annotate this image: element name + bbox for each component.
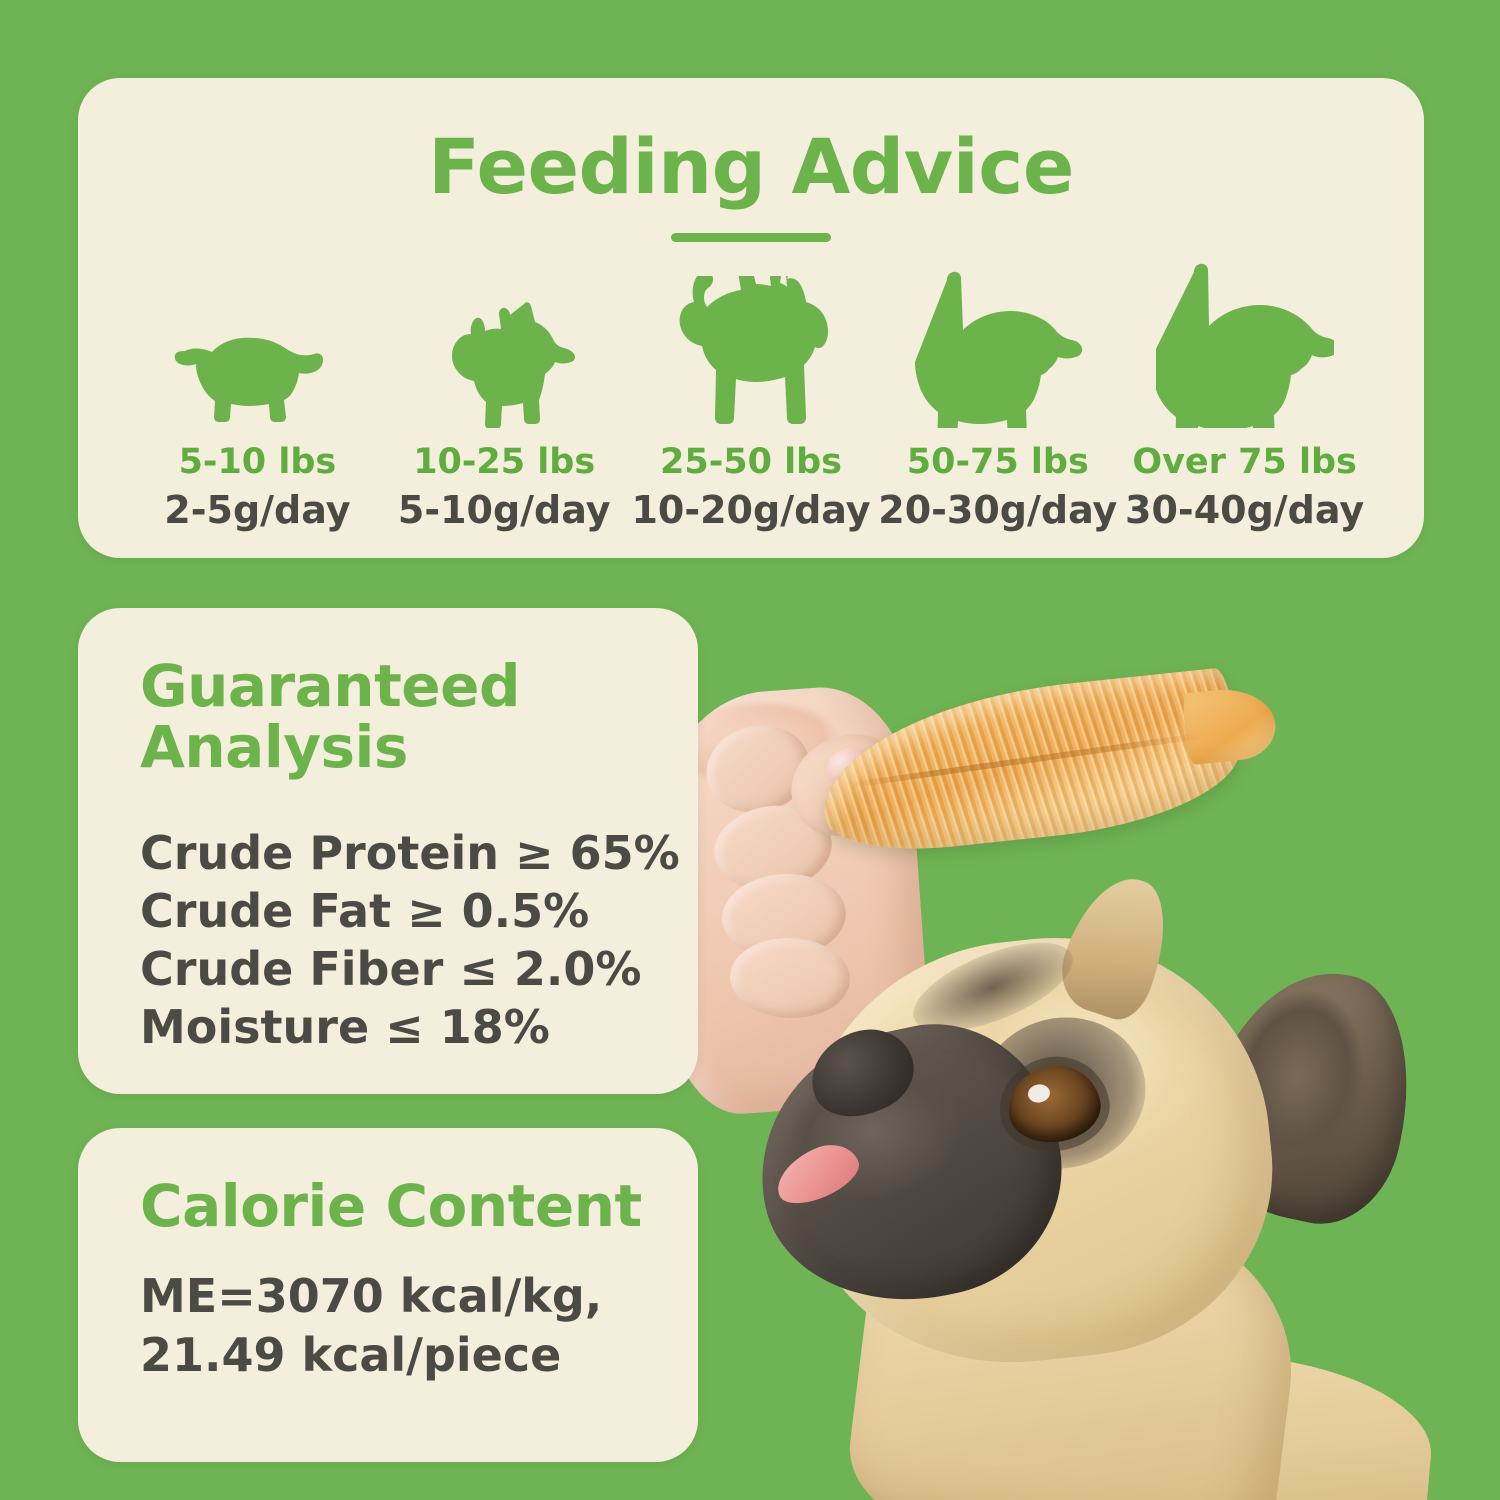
feeding-columns: 5-10 lbs 2-5g/day 10-25 lbs 5-10g/day [78, 242, 1424, 532]
feeding-amount-3: 10-20g/day [631, 488, 870, 532]
large-dog-silhouette-icon [1156, 268, 1334, 428]
feeding-column-4: 50-75 lbs 20-30g/day [874, 268, 1121, 532]
feeding-weight-5: Over 75 lbs [1132, 442, 1357, 482]
feeding-weight-1: 5-10 lbs [179, 442, 337, 482]
calorie-line-2: 21.49 kcal/piece [140, 1326, 698, 1385]
treat-tip [1182, 684, 1279, 765]
feeding-amount-4: 20-30g/day [878, 488, 1117, 532]
hound-silhouette-icon [913, 268, 1083, 428]
infographic-stage: Feeding Advice 5-10 lbs 2-5g/day [0, 0, 1500, 1500]
small-dog-silhouette-icon [428, 268, 580, 428]
feeding-column-3: 25-50 lbs 10-20g/day [628, 268, 875, 532]
analysis-row-fat: Crude Fat ≥ 0.5% [140, 883, 698, 941]
feeding-column-1: 5-10 lbs 2-5g/day [134, 268, 381, 532]
guaranteed-analysis-card: Guaranteed Analysis Crude Protein ≥ 65% … [78, 608, 698, 1094]
feeding-advice-title: Feeding Advice [78, 78, 1424, 211]
calorie-heading: Calorie Content [140, 1176, 698, 1237]
title-divider [671, 233, 831, 242]
chicken-breast-jerky-treat [813, 666, 1246, 859]
terrier-silhouette-icon [667, 268, 835, 428]
analysis-heading: Guaranteed Analysis [140, 656, 698, 779]
feeding-column-5: Over 75 lbs 30-40g/day [1121, 268, 1368, 532]
feeding-amount-5: 30-40g/day [1125, 488, 1364, 532]
calorie-body: ME=3070 kcal/kg, 21.49 kcal/piece [140, 1267, 698, 1385]
treat-body [813, 666, 1246, 859]
calorie-line-1: ME=3070 kcal/kg, [140, 1267, 698, 1326]
analysis-row-protein: Crude Protein ≥ 65% [140, 825, 698, 883]
feeding-advice-card: Feeding Advice 5-10 lbs 2-5g/day [78, 78, 1424, 558]
calorie-content-card: Calorie Content ME=3070 kcal/kg, 21.49 k… [78, 1128, 698, 1462]
feeding-weight-3: 25-50 lbs [660, 442, 842, 482]
analysis-inner: Guaranteed Analysis Crude Protein ≥ 65% … [78, 608, 698, 1057]
analysis-heading-line2: Analysis [140, 717, 698, 778]
french-bulldog [740, 880, 1500, 1500]
analysis-list: Crude Protein ≥ 65% Crude Fat ≥ 0.5% Cru… [140, 825, 698, 1057]
feeding-column-2: 10-25 lbs 5-10g/day [381, 268, 628, 532]
feeding-weight-4: 50-75 lbs [907, 442, 1089, 482]
puppy-silhouette-icon [173, 268, 341, 428]
analysis-row-fiber: Crude Fiber ≤ 2.0% [140, 941, 698, 999]
feeding-amount-2: 5-10g/day [398, 488, 611, 532]
analysis-heading-line1: Guaranteed [140, 656, 698, 717]
calorie-inner: Calorie Content ME=3070 kcal/kg, 21.49 k… [78, 1128, 698, 1385]
feeding-weight-2: 10-25 lbs [413, 442, 595, 482]
analysis-row-moisture: Moisture ≤ 18% [140, 999, 698, 1057]
feeding-amount-1: 2-5g/day [164, 488, 350, 532]
